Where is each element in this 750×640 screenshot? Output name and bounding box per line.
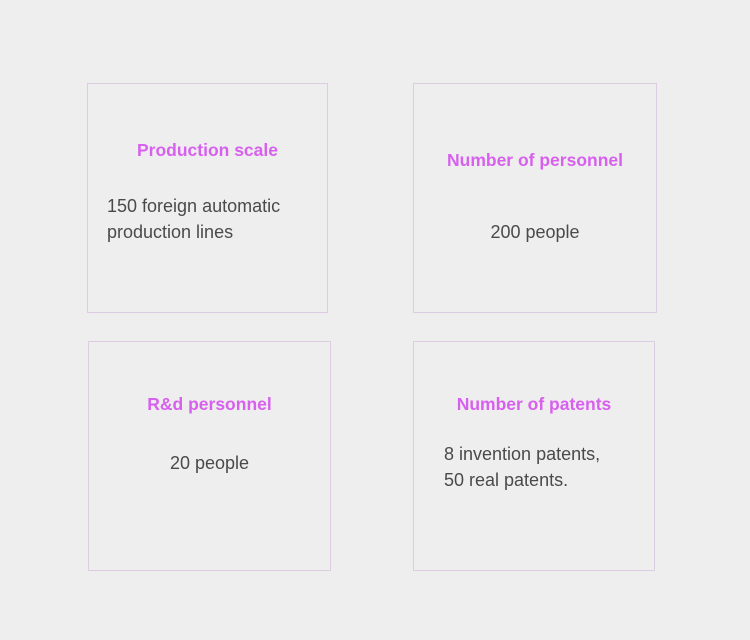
stat-card-body-line: 8 invention patents, <box>444 442 642 468</box>
stat-card-body-line: production lines <box>107 220 313 246</box>
stat-card-production-scale: Production scale 150 foreign automatic p… <box>87 83 328 313</box>
stats-card-grid: Production scale 150 foreign automatic p… <box>0 0 750 640</box>
stat-card-number-of-personnel: Number of personnel 200 people <box>413 83 657 313</box>
stat-card-title: Production scale <box>88 140 327 161</box>
stat-card-number-of-patents: Number of patents 8 invention patents, 5… <box>413 341 655 571</box>
stat-card-body-line: 20 people <box>103 451 316 477</box>
stat-card-body: 150 foreign automatic production lines <box>107 194 313 245</box>
stat-card-body-line: 200 people <box>428 220 642 246</box>
stat-card-body: 20 people <box>103 451 316 477</box>
stat-card-body: 200 people <box>428 220 642 246</box>
stat-card-body-line: 50 real patents. <box>444 468 642 494</box>
stat-card-rd-personnel: R&d personnel 20 people <box>88 341 331 571</box>
stat-card-title: Number of patents <box>414 394 654 415</box>
stat-card-body-line: 150 foreign automatic <box>107 194 313 220</box>
stat-card-body: 8 invention patents, 50 real patents. <box>444 442 642 493</box>
stat-card-title: Number of personnel <box>414 150 656 171</box>
stat-card-title: R&d personnel <box>89 394 330 415</box>
